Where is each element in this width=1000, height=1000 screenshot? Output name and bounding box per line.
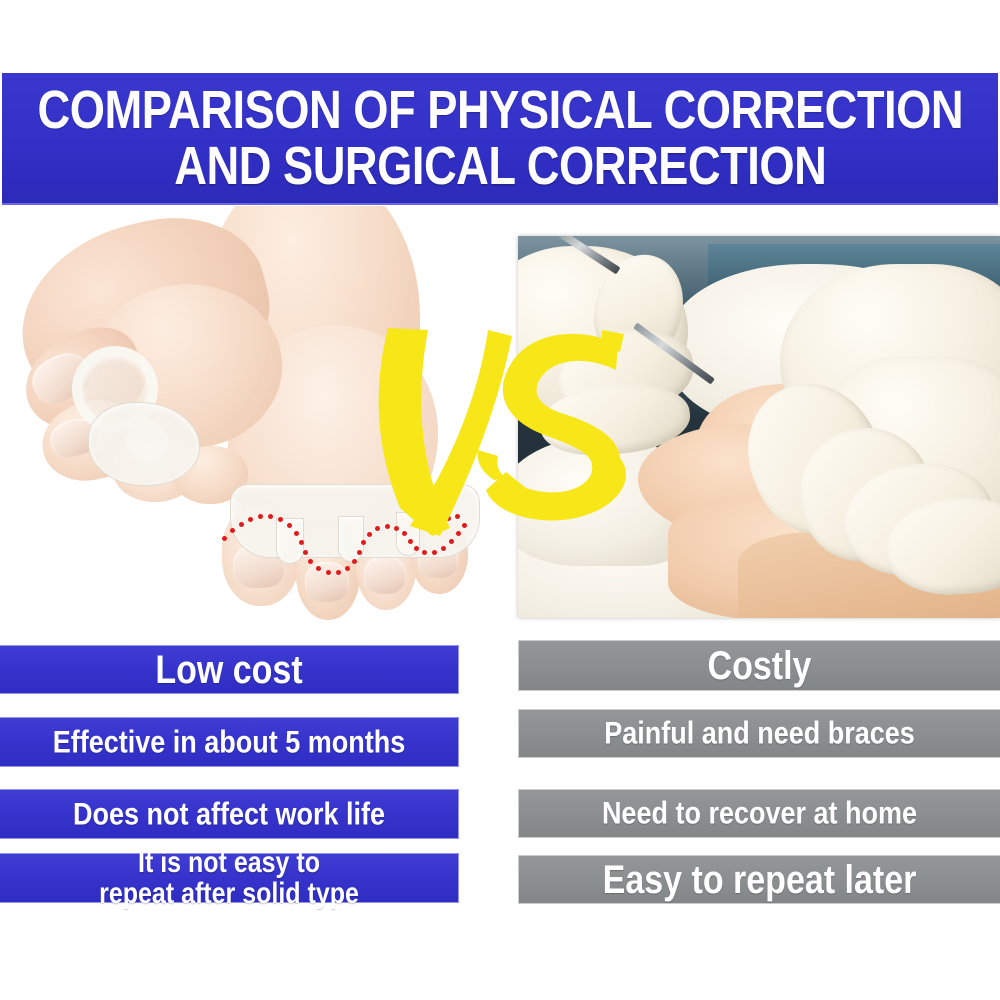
surgical-item-1-label: Costly — [702, 645, 818, 685]
physical-item-4-label: It is not easy to repeat after solid typ… — [93, 847, 365, 908]
toe-outline-dots — [0, 206, 500, 630]
physical-item-1[interactable]: Low cost — [0, 646, 458, 693]
surgical-correction-photo — [518, 236, 1000, 618]
surgical-item-2[interactable]: Painful and need braces — [519, 710, 1000, 757]
physical-item-2-label: Effective in about 5 months — [47, 726, 412, 758]
physical-item-4[interactable]: It is not easy to repeat after solid typ… — [0, 854, 458, 902]
comparison-infographic: COMPARISON OF PHYSICAL CORRECTION AND SU… — [0, 0, 1000, 1000]
physical-item-3[interactable]: Does not affect work life — [0, 790, 458, 838]
page-title: COMPARISON OF PHYSICAL CORRECTION AND SU… — [23, 83, 977, 196]
surgical-item-2-label: Painful and need braces — [598, 718, 921, 750]
physical-correction-photo — [0, 206, 500, 630]
title-banner: COMPARISON OF PHYSICAL CORRECTION AND SU… — [2, 73, 998, 205]
physical-item-2[interactable]: Effective in about 5 months — [0, 718, 458, 766]
surgical-item-4-label: Easy to repeat later — [597, 859, 923, 899]
physical-item-3-label: Does not affect work life — [67, 798, 391, 830]
surgical-item-1[interactable]: Costly — [519, 641, 1000, 690]
physical-item-1-label: Low cost — [149, 649, 308, 689]
surgical-item-3[interactable]: Need to recover at home — [519, 790, 1000, 837]
surgical-item-4[interactable]: Easy to repeat later — [519, 856, 1000, 903]
surgical-item-3-label: Need to recover at home — [596, 798, 923, 830]
